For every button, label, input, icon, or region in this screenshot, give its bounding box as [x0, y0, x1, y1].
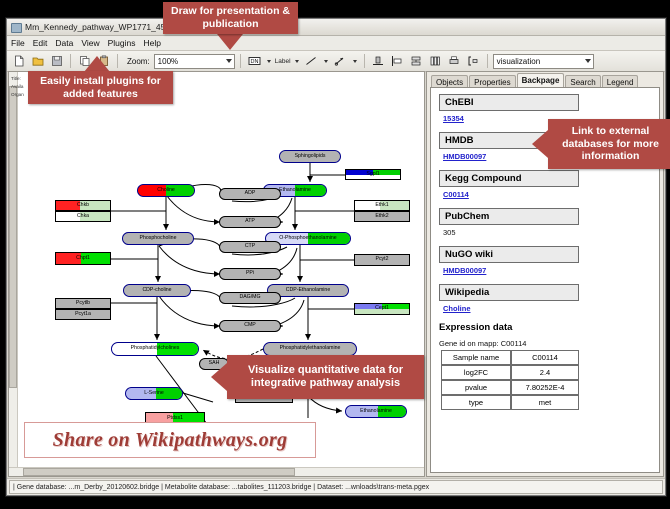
metabolite-node[interactable]: CDP-choline [123, 284, 191, 297]
callout-external-links: Link to external databases for more info… [548, 119, 670, 169]
metabolite-node[interactable]: L-Serine [125, 387, 183, 400]
gene-product-node[interactable]: Pcyt1a [55, 309, 111, 320]
node-label: Cept1 [375, 306, 389, 311]
toolbar-separator [240, 54, 241, 68]
backpage-section-header: ChEBI [439, 94, 579, 111]
line-tool-icon[interactable] [303, 53, 320, 70]
callout-text: Easily install plugins for added feature… [28, 75, 173, 101]
expression-key: log2FC [441, 365, 511, 380]
table-row: Sample nameC00114 [441, 350, 579, 365]
menu-item-view[interactable]: View [81, 38, 99, 48]
callout-text: Visualize quantitative data for integrat… [233, 364, 418, 391]
menu-item-plugins[interactable]: Plugins [108, 38, 136, 48]
gene-product-node[interactable]: Ethk1 [354, 200, 410, 211]
gene-product-node[interactable]: Ethk2 [354, 211, 410, 222]
zoom-value: 100% [158, 57, 178, 66]
scroll-thumb[interactable] [9, 86, 17, 388]
gene-id-label: Gene id on mapp: C00114 [439, 339, 651, 348]
interaction-tool-icon[interactable] [332, 53, 349, 70]
screenshot-root: Mm_Kennedy_pathway_WP1771_45176.gpml Fil… [0, 0, 670, 509]
print-icon[interactable] [446, 53, 463, 70]
visualization-combo[interactable]: visualization [493, 54, 594, 69]
menu-item-edit[interactable]: Edit [33, 38, 48, 48]
table-row: log2FC2.4 [441, 365, 579, 380]
node-label: CDP-Ethanolamine [286, 288, 330, 293]
node-label: PPi [246, 271, 254, 276]
expression-table: Sample nameC00114log2FC2.4pvalue7.80252E… [441, 350, 579, 410]
chevron-down-icon [585, 59, 591, 63]
callout-share-wikipathways: Share on Wikipathways.org [24, 422, 316, 458]
open-file-icon[interactable] [29, 53, 46, 70]
node-label: Chkb [77, 203, 89, 208]
backpage-section-header: NuGO wiki [439, 246, 579, 263]
backpage-section-header: PubChem [439, 208, 579, 225]
app-icon [11, 22, 21, 32]
gene-product-node[interactable]: Sgpl1 [345, 169, 401, 180]
callout-text: Draw for presentation & publication [163, 5, 298, 31]
node-label: Ethanolamine [360, 409, 392, 414]
menu-item-file[interactable]: File [11, 38, 25, 48]
gene-product-node[interactable]: Chpt1 [55, 252, 111, 265]
node-label: ATP [245, 219, 255, 224]
menubar: File Edit Data View Plugins Help [7, 36, 665, 51]
align-top-icon[interactable] [370, 53, 387, 70]
node-label: O-Phosphoethanolamine [279, 236, 336, 241]
node-label: Ptdss1 [167, 416, 183, 421]
statusbar: | Gene database: ...m_Derby_20120602.bri… [7, 478, 665, 495]
metabolite-node[interactable]: Sphingolipids [279, 150, 341, 163]
backpage-link[interactable]: C00114 [443, 190, 651, 199]
toolbar-separator [487, 54, 488, 68]
callout-plugins-arrow-icon [84, 56, 110, 72]
callout-visualize-data: Visualize quantitative data for integrat… [227, 355, 424, 399]
cofactor-node[interactable]: DAG/MG [219, 292, 281, 304]
node-label: Choline [157, 188, 175, 193]
metabolite-node[interactable]: Choline [137, 184, 195, 197]
chevron-down-icon[interactable] [353, 60, 357, 63]
table-row: pvalue7.80252E-4 [441, 380, 579, 395]
menu-item-help[interactable]: Help [144, 38, 161, 48]
chevron-down-icon [226, 59, 232, 63]
expression-value: 7.80252E-4 [511, 380, 579, 395]
backpage-section-header: Kegg Compound [439, 170, 579, 187]
svg-text:DN: DN [250, 59, 258, 65]
metabolite-node[interactable]: Ethanolamine [345, 405, 407, 418]
node-label: Pcytlb [76, 301, 90, 306]
distribute-icon[interactable] [408, 53, 425, 70]
gene-product-node[interactable]: Chka [55, 211, 111, 222]
expression-key: pvalue [441, 380, 511, 395]
statusbar-text: | Gene database: ...m_Derby_20120602.bri… [9, 480, 663, 494]
stack-icon[interactable] [427, 53, 444, 70]
node-label: L-Serine [144, 391, 164, 396]
datanode-icon[interactable]: DN [246, 53, 263, 70]
node-label: Pcyt2 [376, 257, 389, 262]
gene-product-node[interactable]: Pcytlb [55, 298, 111, 309]
callout-text: Link to external databases for more info… [552, 125, 669, 163]
node-label: Phosphatidylethanolamine [280, 346, 341, 351]
node-label: DAG/MG [239, 295, 260, 300]
node-label: Sphingolipids [295, 154, 326, 159]
pathway-diagram[interactable]: SphingolipidsCholineEthanolaminePhosphoc… [17, 72, 424, 468]
backpage-value: 305 [443, 228, 651, 237]
expression-value: met [511, 395, 579, 410]
new-file-icon[interactable] [10, 53, 27, 70]
node-label: Chka [77, 214, 89, 219]
tab-backpage[interactable]: Backpage [517, 73, 565, 87]
cofactor-node[interactable]: CMP [219, 320, 281, 332]
node-label: Ethk1 [375, 203, 388, 208]
node-label: Chpt1 [76, 256, 90, 261]
gene-product-node[interactable]: Cept1 [354, 303, 410, 315]
pathway-canvas[interactable]: Title: Availa Organ [8, 71, 425, 477]
toolbar-separator [70, 54, 71, 68]
expression-value: C00114 [511, 350, 579, 365]
callout-visualize-arrow-icon [211, 363, 227, 391]
node-label: CDP-choline [142, 288, 171, 293]
expression-key: Sample name [441, 350, 511, 365]
node-label: Pcyt1a [75, 312, 91, 317]
backpage-link[interactable]: Choline [443, 304, 651, 313]
expression-key: type [441, 395, 511, 410]
node-label: Phosphatidylcholines [131, 346, 180, 351]
metabolite-node[interactable]: Phosphatidylethanolamine [263, 342, 357, 356]
chevron-down-icon[interactable] [324, 60, 328, 63]
node-label: Sgpl1 [366, 172, 379, 177]
expression-data-header: Expression data [439, 322, 651, 333]
chevron-down-icon[interactable] [267, 60, 271, 63]
node-label: CMP [244, 323, 256, 328]
metabolite-node[interactable]: Phosphocholine [122, 232, 194, 245]
node-label: CTP [245, 244, 255, 249]
zoom-combo[interactable]: 100% [154, 54, 235, 69]
backpage-section-header: Wikipedia [439, 284, 579, 301]
cofactor-node[interactable]: CTP [219, 241, 281, 253]
cofactor-node[interactable]: ADP [219, 188, 281, 200]
cofactor-node[interactable]: ATP [219, 216, 281, 228]
bracket-icon[interactable] [465, 53, 482, 70]
callout-draw-for-publication: Draw for presentation & publication [163, 2, 298, 34]
gene-product-node[interactable]: Pcyt2 [354, 254, 410, 266]
window-titlebar: Mm_Kennedy_pathway_WP1771_45176.gpml [7, 19, 665, 36]
callout-install-plugins: Easily install plugins for added feature… [28, 71, 173, 104]
align-left-icon[interactable] [389, 53, 406, 70]
cofactor-node[interactable]: PPi [219, 268, 281, 280]
label-tool-label[interactable]: Label [275, 58, 291, 65]
toolbar-separator [364, 54, 365, 68]
zoom-label: Zoom: [127, 57, 150, 66]
callout-draw-arrow-icon [217, 34, 243, 50]
node-label: ADP [245, 191, 256, 196]
backpage-link[interactable]: HMDB00097 [443, 266, 651, 275]
toolbar-separator [117, 54, 118, 68]
visualization-value: visualization [497, 57, 541, 66]
chevron-down-icon[interactable] [295, 60, 299, 63]
gene-product-node[interactable]: Chkb [55, 200, 111, 211]
callout-text: Share on Wikipathways.org [53, 429, 288, 452]
expression-value: 2.4 [511, 365, 579, 380]
node-label: Ethanolamine [279, 188, 311, 193]
node-label: Phosphocholine [140, 236, 177, 241]
table-row: typemet [441, 395, 579, 410]
side-panel-tabs: ObjectsPropertiesBackpageSearchLegend [427, 72, 663, 87]
menu-item-data[interactable]: Data [55, 38, 73, 48]
node-label: Ethk2 [375, 214, 388, 219]
callout-links-arrow-icon [532, 130, 548, 158]
save-file-icon[interactable] [48, 53, 65, 70]
metabolite-node[interactable]: Phosphatidylcholines [111, 342, 199, 356]
